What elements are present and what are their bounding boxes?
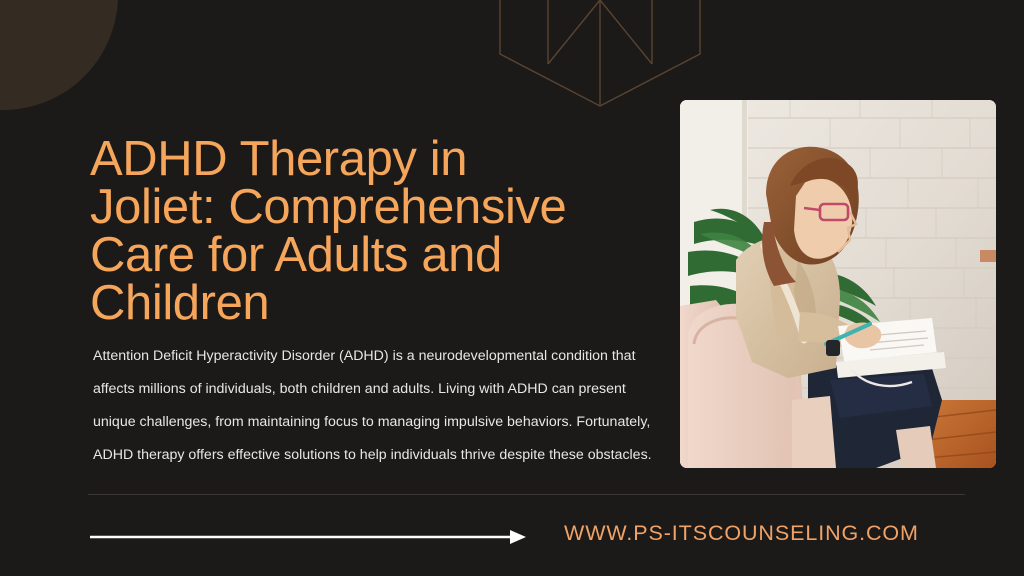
- body-paragraph: Attention Deficit Hyperactivity Disorder…: [93, 340, 663, 472]
- website-url[interactable]: WWW.PS-ITSCOUNSELING.COM: [564, 521, 919, 546]
- decorative-cube-outline-icon: [488, 0, 712, 108]
- page-title: ADHD Therapy in Joliet: Comprehensive Ca…: [90, 135, 670, 327]
- decorative-circle: [0, 0, 118, 110]
- footer-divider: [88, 494, 965, 495]
- hero-photo: [680, 100, 996, 468]
- arrow-right-icon: [90, 528, 526, 546]
- slide-canvas: ADHD Therapy in Joliet: Comprehensive Ca…: [0, 0, 1024, 576]
